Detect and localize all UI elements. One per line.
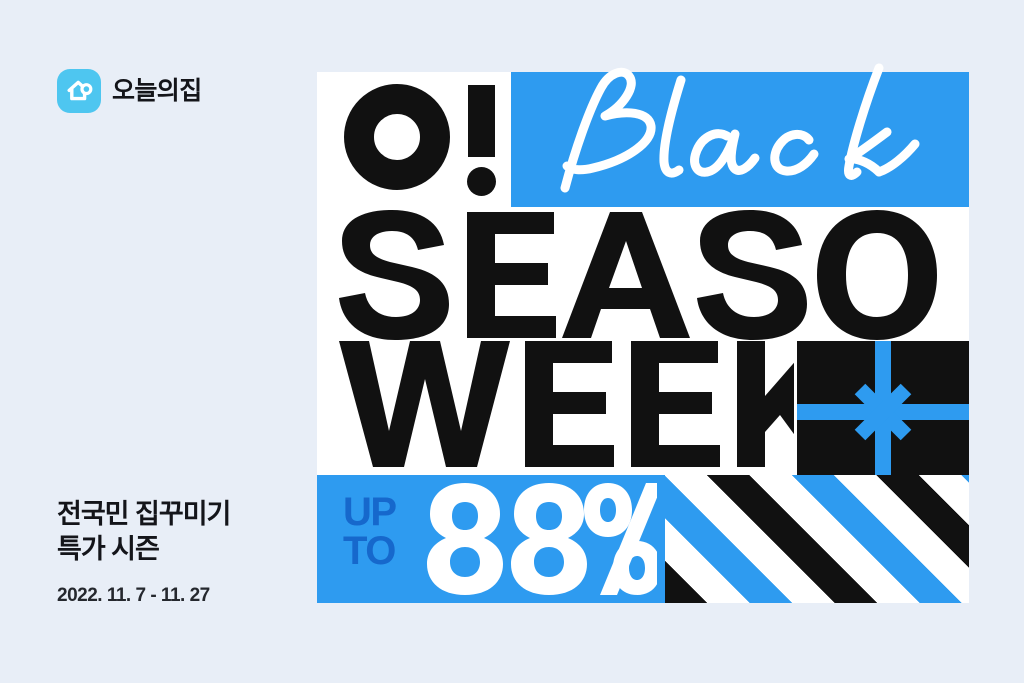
poster-row-season [317,207,969,342]
discount-value [427,483,657,595]
up-to-line-2: TO [343,532,429,571]
up-to-line-1: UP [343,493,429,532]
campaign-poster[interactable]: UP TO [317,72,969,603]
house-with-circle-icon [57,69,101,113]
eight-point-star-icon [847,381,919,443]
exclamation-bar [468,85,495,157]
black-script-bar [511,72,969,207]
diagonal-stripes-pattern [665,475,969,603]
promo-title: 전국민 집꾸미기 특가 시즌 [57,497,307,567]
promo-dates: 2022. 11. 7 - 11. 27 [57,586,307,605]
poster-row-sale: UP TO [317,475,969,603]
black-script-word [531,40,961,210]
sale-block: UP TO [317,475,665,603]
word-week [339,339,794,469]
up-to-label: UP TO [343,493,429,571]
o-exclamation-mark [344,84,509,196]
poster-row-headline [317,72,969,207]
brand-name: 오늘의집 [112,79,202,104]
poster-row-week [317,337,969,475]
brand-logo[interactable]: 오늘의집 [57,69,202,113]
promo-text-block: 전국민 집꾸미기 특가 시즌 2022. 11. 7 - 11. 27 [57,497,307,605]
exclamation-dot [467,167,496,196]
left-info-panel: 오늘의집 전국민 집꾸미기 특가 시즌 2022. 11. 7 - 11. 27 [0,0,317,683]
word-season [339,210,949,340]
letter-o-ring [344,84,450,190]
gift-box-icon [797,341,969,475]
